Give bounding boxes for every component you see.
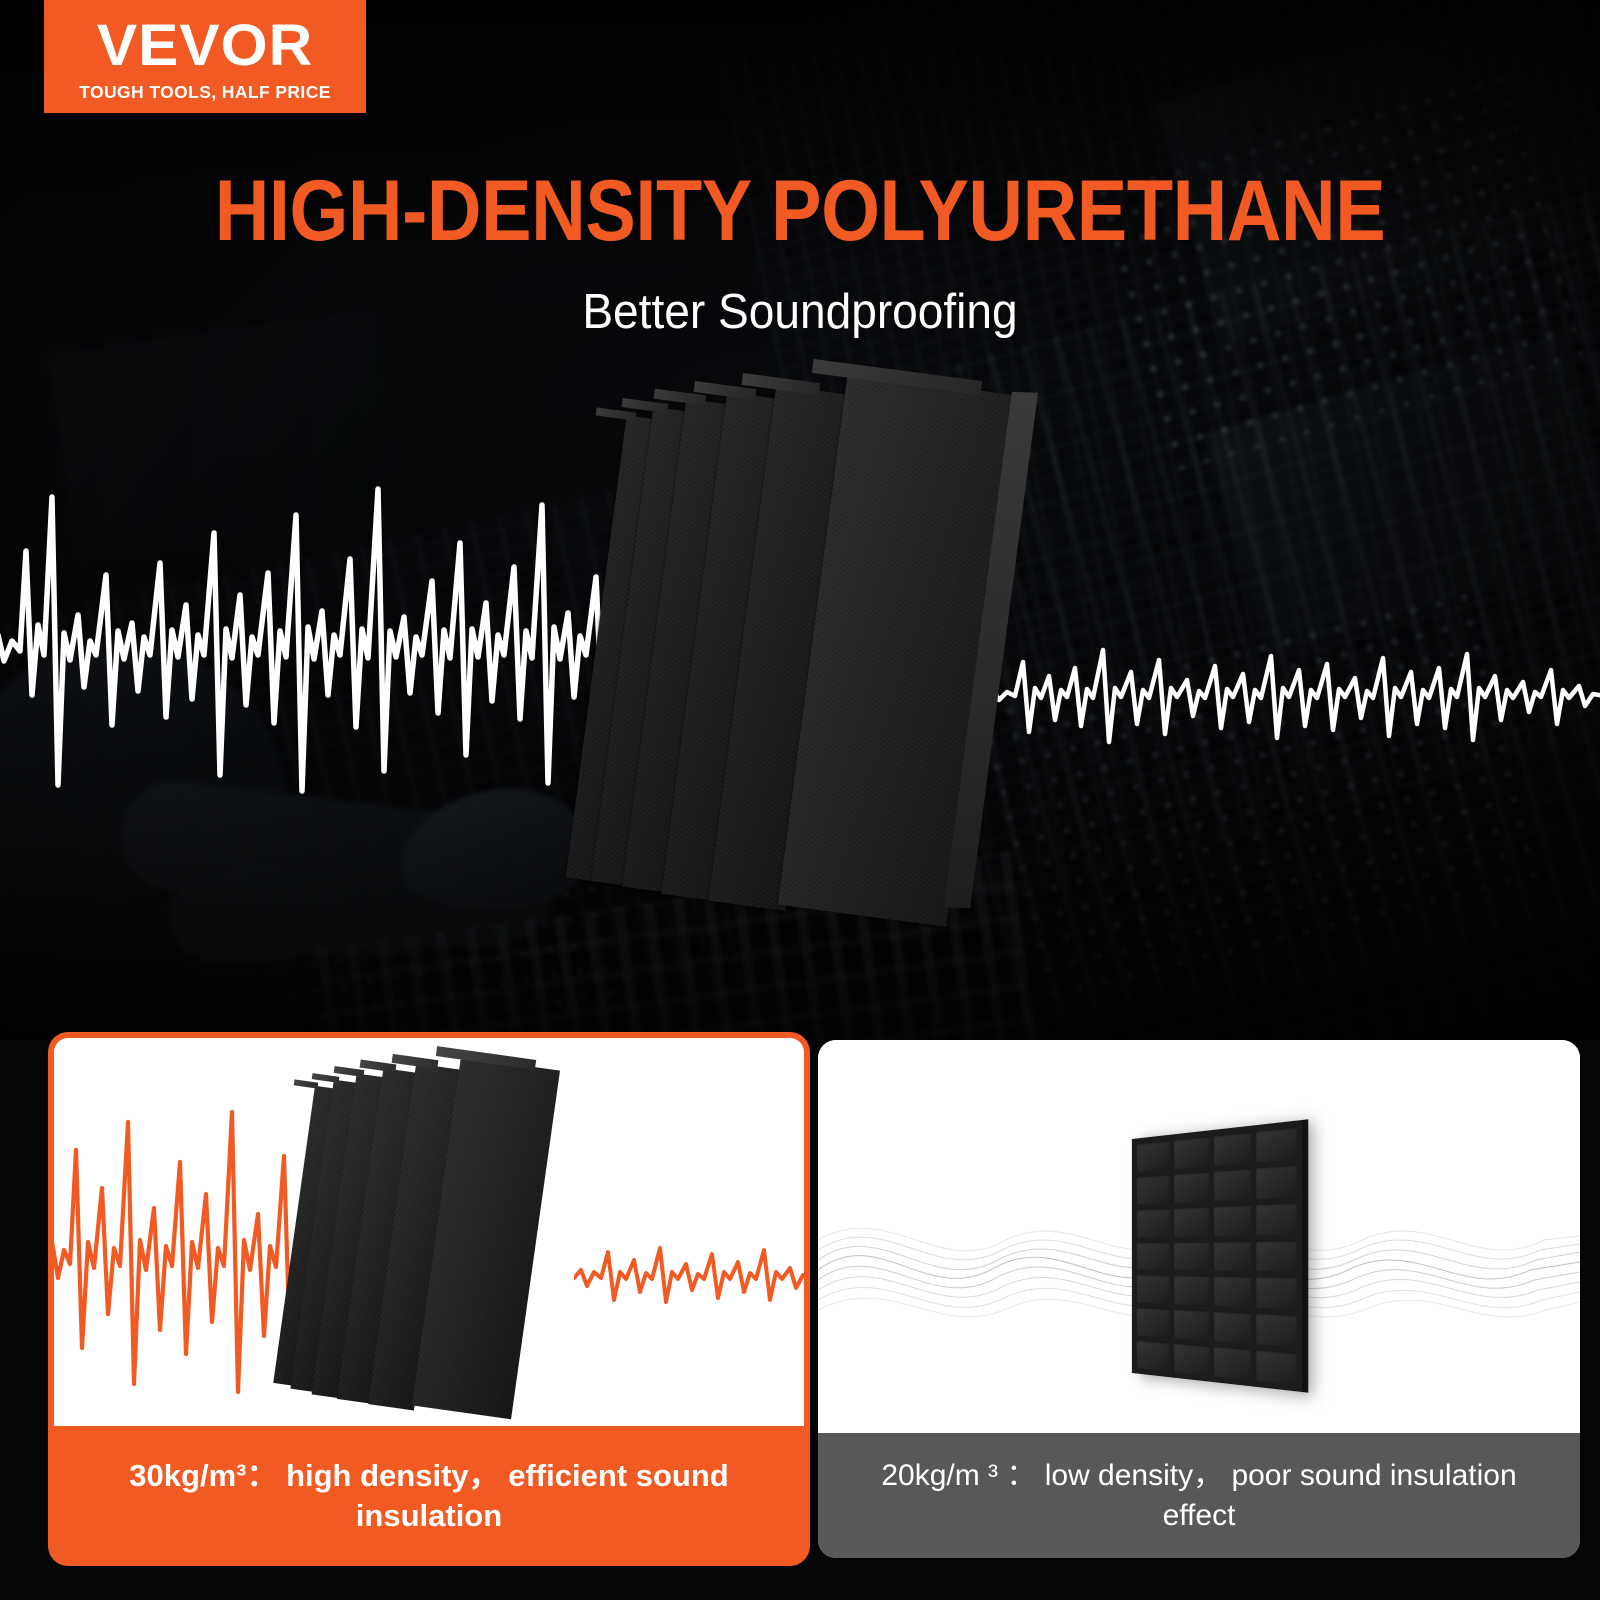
tile-cell: [1255, 1202, 1297, 1235]
tile-cell: [1173, 1309, 1209, 1341]
low-density-grid-tile: [1132, 1120, 1302, 1392]
tile-cell: [1136, 1274, 1169, 1304]
page-subtitle: Better Soundproofing: [48, 288, 1552, 337]
density-comparison-section: 20kg/m ³ ： low density， poor sound insul…: [0, 1026, 1600, 1586]
tile-cell: [1255, 1349, 1297, 1385]
tile-cell: [1173, 1241, 1209, 1271]
tile-cell: [1255, 1240, 1297, 1273]
tile-cell: [1173, 1206, 1209, 1237]
tile-cell: [1173, 1275, 1209, 1306]
foam-panel-top-edge: [596, 407, 637, 420]
foam-panel-top-edge: [294, 1079, 319, 1088]
vevor-logo: VEVOR TOUGH TOOLS, HALF PRICE: [44, 0, 366, 113]
high-density-foam-stack: [290, 1056, 610, 1426]
hero-incident-waveform-icon: [0, 455, 670, 835]
brand-tagline: TOUGH TOOLS, HALF PRICE: [79, 84, 331, 102]
high-density-caption: 30kg/m³： high density， efficient sound i…: [48, 1426, 810, 1566]
tile-cell: [1212, 1346, 1251, 1381]
tile-cell: [1255, 1277, 1297, 1310]
tile-cell: [1136, 1340, 1169, 1372]
low-density-caption: 20kg/m ³ ： low density， poor sound insul…: [818, 1433, 1580, 1558]
hero-text-block: HIGH-DENSITY POLYURETHANE Better Soundpr…: [0, 168, 1600, 337]
high-density-card: 30kg/m³： high density， efficient sound i…: [48, 1032, 810, 1566]
tile-cell: [1255, 1313, 1297, 1348]
tile-cell: [1255, 1164, 1297, 1199]
tile-cell: [1212, 1276, 1251, 1308]
high-density-illustration: [54, 1038, 804, 1426]
tile-cell: [1212, 1240, 1251, 1271]
tile-cell: [1212, 1311, 1251, 1344]
tile-cell: [1212, 1168, 1251, 1201]
tile-cell: [1173, 1171, 1209, 1203]
low-density-illustration: [818, 1040, 1580, 1433]
tile-cell: [1173, 1136, 1209, 1169]
brand-name: VEVOR: [97, 17, 313, 75]
tile-cell: [1136, 1307, 1169, 1338]
tile-cell: [1255, 1127, 1297, 1163]
page-title: HIGH-DENSITY POLYURETHANE: [96, 168, 1504, 254]
tile-cell: [1136, 1174, 1169, 1205]
tile-cell: [1136, 1241, 1169, 1270]
product-marketing-banner: VEVOR TOUGH TOOLS, HALF PRICE HIGH-DENSI…: [0, 0, 1600, 1600]
tile-cell: [1136, 1208, 1169, 1238]
tile-cell: [1136, 1140, 1169, 1172]
tile-cell: [1173, 1343, 1209, 1376]
tile-cell: [1212, 1131, 1251, 1166]
tile-cell: [1212, 1204, 1251, 1236]
low-density-card: 20kg/m ³ ： low density， poor sound insul…: [818, 1040, 1580, 1558]
hero-foam-panel-stack: [590, 370, 1090, 970]
